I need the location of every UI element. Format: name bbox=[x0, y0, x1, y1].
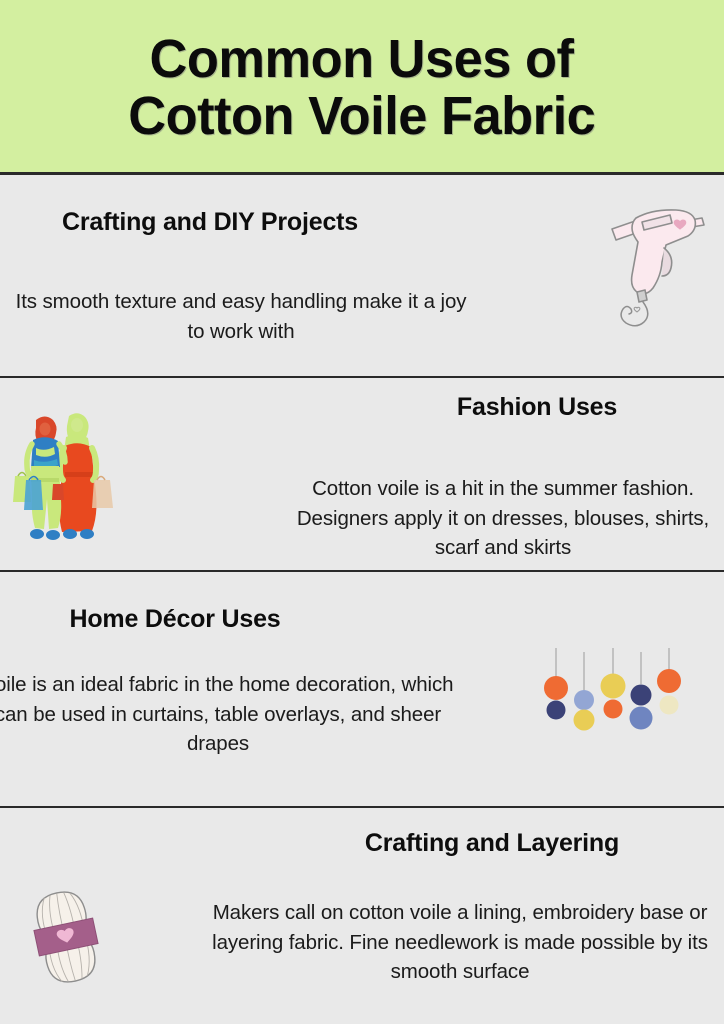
pompom-cream-1 bbox=[660, 696, 679, 715]
pompom-yellow-1 bbox=[574, 710, 595, 731]
section-title-home-decor-uses: Home Décor Uses bbox=[10, 604, 340, 635]
two-women-shopping-icon bbox=[12, 406, 116, 542]
pompom-lightblue-1 bbox=[574, 690, 594, 710]
section-title-crafting-layering: Crafting and Layering bbox=[272, 828, 712, 859]
hanging-pompoms-icon bbox=[542, 648, 684, 736]
yarn-skein-icon bbox=[22, 886, 110, 988]
pompom-blue-1 bbox=[630, 707, 653, 730]
pompom-navy-1 bbox=[547, 701, 566, 720]
pompom-yellow-2 bbox=[601, 674, 626, 699]
pompom-orange-2 bbox=[604, 700, 623, 719]
section-body-crafting-diy: Its smooth texture and easy handling mak… bbox=[6, 287, 476, 346]
infographic-page: Common Uses of Cotton Voile Fabric Craft… bbox=[0, 0, 724, 1024]
section-body-home-decor-uses: Voile is an ideal fabric in the home dec… bbox=[0, 670, 460, 759]
section-body-fashion-uses: Cotton voile is a hit in the summer fash… bbox=[282, 474, 724, 563]
infographic-header: Common Uses of Cotton Voile Fabric bbox=[0, 0, 724, 172]
pompom-orange-1 bbox=[544, 676, 568, 700]
pompom-navy-2 bbox=[631, 685, 652, 706]
pompom-orange-3 bbox=[657, 669, 681, 693]
section-body-crafting-layering: Makers call on cotton voile a lining, em… bbox=[196, 898, 724, 987]
glue-gun-icon bbox=[592, 196, 716, 328]
page-title-line1: Common Uses of bbox=[150, 31, 574, 88]
section-title-fashion-uses: Fashion Uses bbox=[382, 392, 692, 423]
section-title-crafting-diy: Crafting and DIY Projects bbox=[40, 207, 380, 238]
page-title-line2: Cotton Voile Fabric bbox=[128, 88, 595, 145]
